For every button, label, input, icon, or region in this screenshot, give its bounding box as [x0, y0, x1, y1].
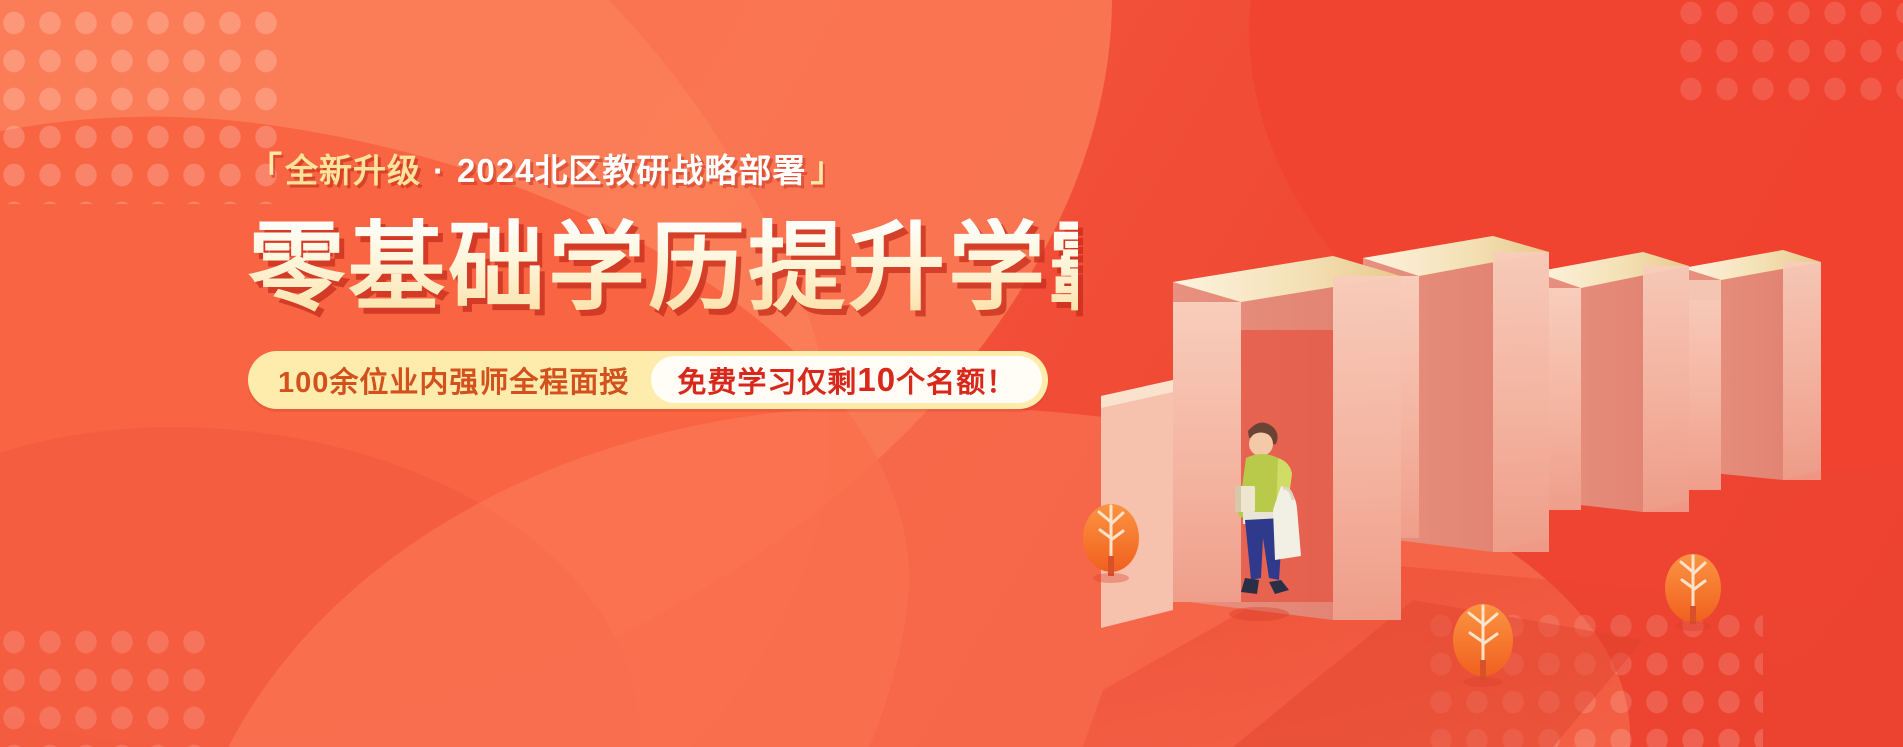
pill-left-label: 100余位业内强师全程面授	[278, 359, 651, 401]
banner-pill-row: 100余位业内强师全程面授 免费学习仅剩 10 个名额！	[248, 351, 1048, 409]
bracket-open-icon: 「	[248, 153, 283, 187]
banner-eyebrow: 「 全新升级 · 2024北区教研战略部署 」	[248, 148, 1078, 192]
pill-right-badge: 免费学习仅剩 10 个名额！	[651, 356, 1042, 403]
pill-right-suffix: 个名额！	[896, 359, 1016, 401]
dot-pattern-top-right	[1673, 0, 1903, 104]
banner-headline: 零基础学历提升学霸班	[248, 218, 1078, 319]
promo-banner: 「 全新升级 · 2024北区教研战略部署 」 零基础学历提升学霸班 100余位…	[0, 0, 1903, 747]
bracket-close-icon: 」	[810, 153, 845, 187]
pill-right-prefix: 免费学习仅剩	[677, 359, 857, 401]
dot-pattern-top-left	[0, 4, 286, 204]
pill-right-number: 10	[857, 361, 896, 399]
dot-pattern-bottom-left	[0, 623, 216, 747]
dot-pattern-bottom-right	[1423, 607, 1763, 747]
eyebrow-separator-icon: ·	[433, 154, 445, 187]
eyebrow-white-text: 2024北区教研战略部署	[457, 154, 806, 187]
eyebrow-gold-text: 全新升级	[285, 154, 421, 187]
banner-copy: 「 全新升级 · 2024北区教研战略部署 」 零基础学历提升学霸班 100余位…	[248, 148, 1078, 409]
